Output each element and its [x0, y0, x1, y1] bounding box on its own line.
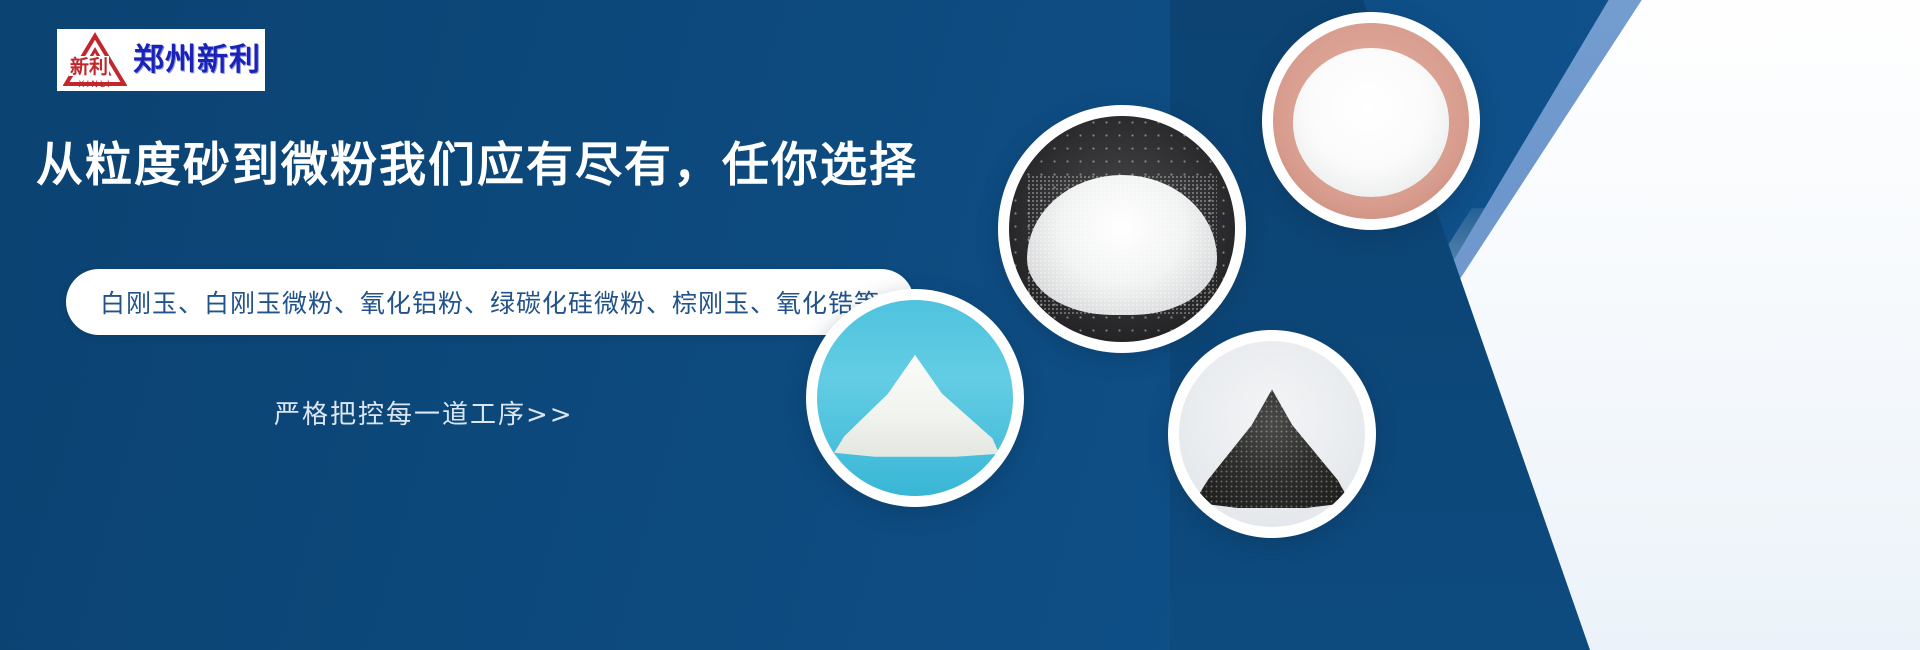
material-heap	[1194, 389, 1350, 508]
material-heap	[831, 355, 1000, 457]
product-circle-alumina-powder-cone[interactable]	[806, 289, 1024, 507]
sand-texture	[1027, 175, 1217, 315]
product-image-white-alumina-micropowder	[1273, 23, 1469, 219]
material-heap	[1293, 48, 1450, 197]
xinli-triangle-icon: 新利 XINLI	[63, 32, 127, 88]
svg-text:XINLI: XINLI	[78, 80, 111, 88]
product-circle-white-fused-alumina-sand[interactable]	[998, 105, 1246, 353]
product-list-text: 白刚玉、白刚玉微粉、氧化铝粉、绿碳化硅微粉、棕刚玉、氧化锆等	[100, 284, 880, 320]
headline-text: 从粒度砂到微粉我们应有尽有，任你选择	[36, 139, 918, 193]
product-list-pill[interactable]: 白刚玉、白刚玉微粉、氧化铝粉、绿碳化硅微粉、棕刚玉、氧化锆等	[66, 269, 914, 335]
promotional-banner: 新利 XINLI 郑州新利 从粒度砂到微粉我们应有尽有，任你选择 白刚玉、白刚玉…	[0, 0, 1920, 650]
product-circle-white-alumina-micropowder[interactable]	[1262, 12, 1480, 230]
material-heap	[1027, 175, 1217, 315]
product-image-white-fused-alumina-sand	[1009, 116, 1235, 342]
svg-text:新利: 新利	[70, 55, 108, 78]
logo-wordmark: 郑州新利	[133, 45, 261, 76]
product-image-alumina-powder-cone	[817, 300, 1013, 496]
product-circle-brown-fused-alumina-grain[interactable]	[1168, 330, 1376, 538]
grain-texture	[1194, 389, 1350, 508]
company-logo[interactable]: 新利 XINLI 郑州新利	[57, 29, 265, 91]
product-image-brown-fused-alumina-grain	[1179, 341, 1365, 527]
subtitle-cta-link[interactable]: 严格把控每一道工序>>	[274, 394, 574, 431]
